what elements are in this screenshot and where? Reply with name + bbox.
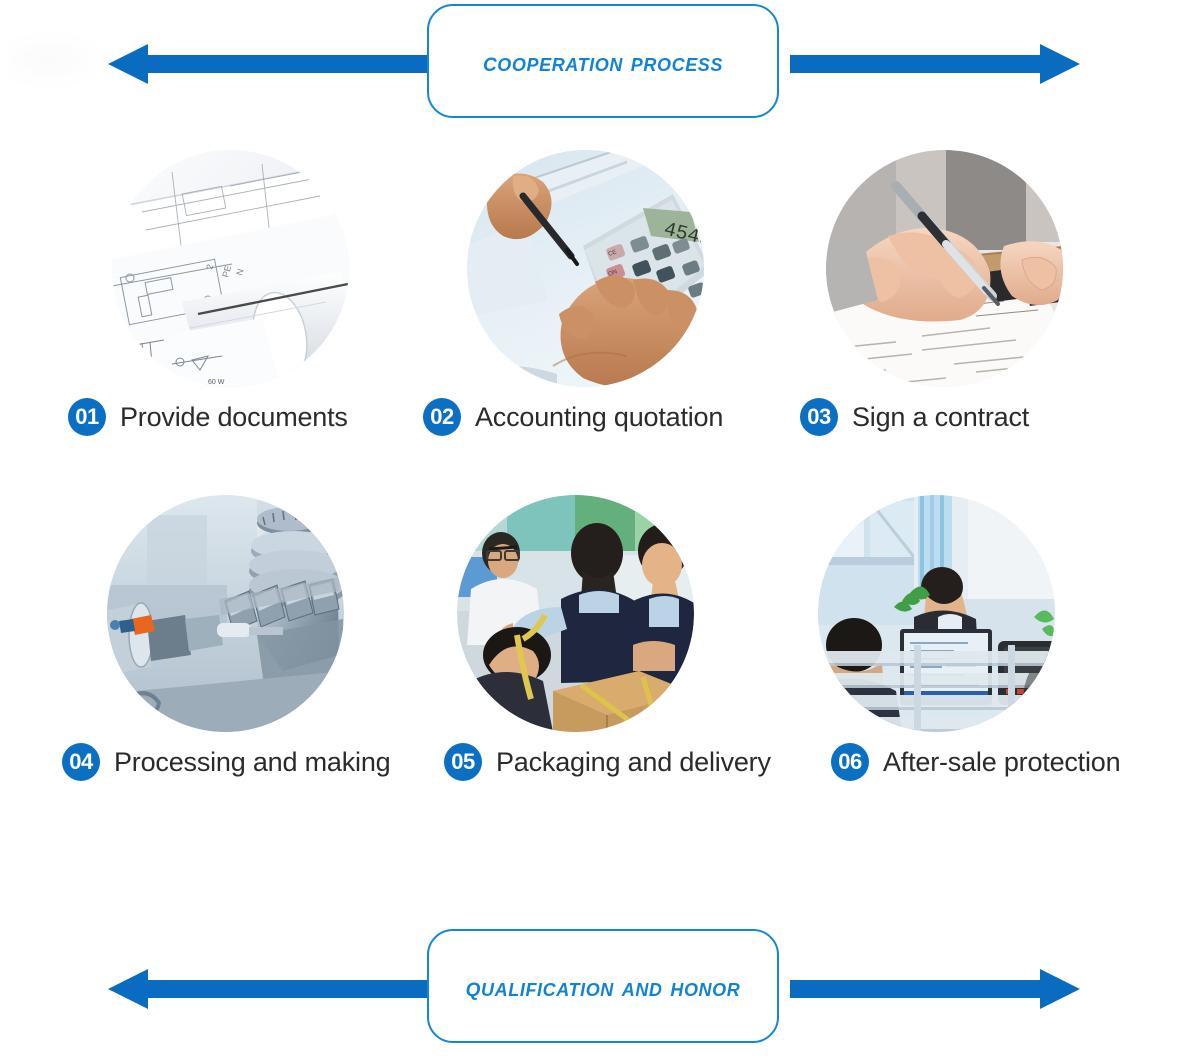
step-caption: 05 Packaging and delivery [444, 743, 771, 781]
header-banner-title: COOPERATION PROCESS [483, 43, 723, 79]
footer-title-first-letter: Q [466, 968, 481, 1003]
step-number-badge: 03 [800, 398, 838, 436]
step-photo-sign-a-contract [826, 150, 1063, 387]
step-label: After-sale protection [883, 747, 1120, 778]
step-caption: 04 Processing and making [62, 743, 390, 781]
process-step-05[interactable]: 05 Packaging and delivery [365, 495, 765, 840]
arrow-left-icon [108, 44, 428, 84]
step-photo-provide-documents: PE N 2 [112, 150, 349, 387]
step-number-badge: 05 [444, 743, 482, 781]
step-number-badge: 01 [68, 398, 106, 436]
header-banner: COOPERATION PROCESS [0, 0, 1200, 128]
footer-banner: QUALIFICATION AND HONOR [0, 925, 1200, 1053]
arrow-left-icon [108, 969, 428, 1009]
process-step-03[interactable]: 03 Sign a contract [730, 150, 1130, 495]
header-title-rest: OOPERATION PROCESS [497, 47, 723, 77]
step-photo-processing-and-making [107, 495, 344, 732]
step-number-badge: 02 [423, 398, 461, 436]
header-banner-box: COOPERATION PROCESS [427, 4, 779, 118]
process-step-06[interactable]: 06 After-sale protection [730, 495, 1130, 840]
process-step-02[interactable]: 4549 [365, 150, 765, 495]
process-steps-row: 04 Processing and making [0, 495, 1200, 840]
process-steps-grid: PE N 2 [0, 150, 1200, 840]
footer-banner-title: QUALIFICATION AND HONOR [466, 968, 741, 1004]
process-step-04[interactable]: 04 Processing and making [0, 495, 400, 840]
arrow-right-icon [790, 44, 1080, 84]
step-photo-packaging-and-delivery [457, 495, 694, 732]
step-caption: 03 Sign a contract [800, 398, 1029, 436]
step-caption: 02 Accounting quotation [423, 398, 723, 436]
step-label: Sign a contract [852, 402, 1029, 433]
step-number-badge: 04 [62, 743, 100, 781]
process-step-01[interactable]: PE N 2 [0, 150, 400, 495]
footer-banner-box: QUALIFICATION AND HONOR [427, 929, 779, 1043]
step-label: Processing and making [114, 747, 390, 778]
header-title-first-letter: C [483, 43, 497, 78]
step-label: Provide documents [120, 402, 348, 433]
arrow-right-icon [790, 969, 1080, 1009]
svg-text:60 W: 60 W [208, 379, 225, 386]
step-caption: 01 Provide documents [68, 398, 348, 436]
step-label: Accounting quotation [475, 402, 723, 433]
step-photo-after-sale-protection [818, 495, 1055, 732]
svg-text:b1: b1 [176, 381, 184, 387]
step-caption: 06 After-sale protection [831, 743, 1120, 781]
step-number-badge: 06 [831, 743, 869, 781]
footer-title-rest: UALIFICATION AND HONOR [481, 972, 740, 1002]
process-steps-row: PE N 2 [0, 150, 1200, 495]
step-photo-accounting-quotation: 4549 [467, 150, 704, 387]
cooperation-process-page: COOPERATION PROCESS [0, 0, 1200, 1061]
